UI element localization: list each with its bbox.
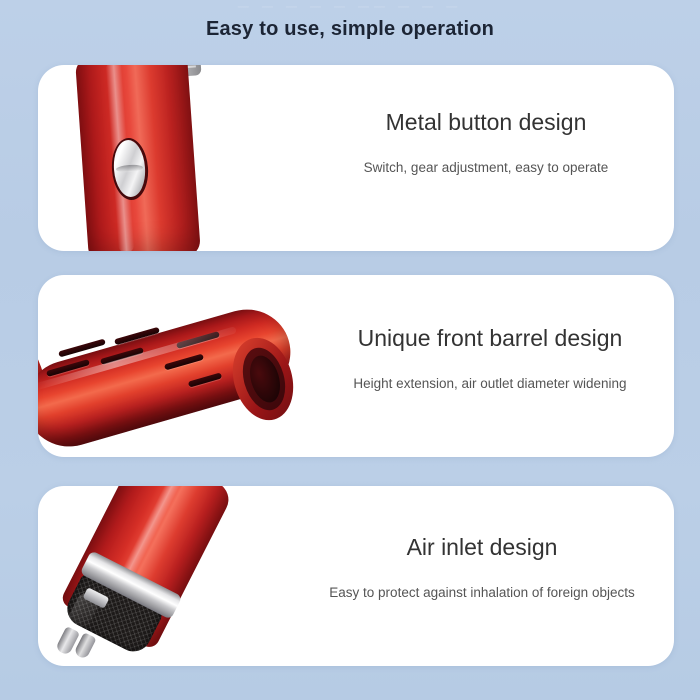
feature-heading: Metal button design: [310, 109, 662, 135]
feature-subtitle: Switch, gear adjustment, easy to operate: [310, 159, 662, 177]
feature-card-air-inlet[interactable]: Air inlet design Easy to protect against…: [38, 486, 674, 666]
page-title: Easy to use, simple operation: [0, 18, 700, 41]
product-image-air-inlet: [38, 486, 298, 666]
feature-card-front-barrel[interactable]: Unique front barrel design Height extens…: [38, 275, 674, 457]
watermark-text: — — — — — —— — — —: [0, 0, 700, 14]
feature-card-metal-button[interactable]: Metal button design Switch, gear adjustm…: [38, 65, 674, 251]
feature-text-block-2: Unique front barrel design Height extens…: [314, 325, 666, 393]
feature-subtitle: Height extension, air outlet diameter wi…: [314, 375, 666, 393]
feature-heading: Air inlet design: [306, 534, 658, 560]
feature-text-block-3: Air inlet design Easy to protect against…: [306, 534, 658, 602]
feature-text-block-1: Metal button design Switch, gear adjustm…: [310, 109, 662, 177]
feature-heading: Unique front barrel design: [314, 325, 666, 351]
feature-subtitle: Easy to protect against inhalation of fo…: [306, 584, 658, 602]
product-image-metal-button: [38, 65, 248, 251]
product-image-front-barrel: [38, 303, 338, 453]
product-feature-page: — — — — — —— — — — Easy to use, simple o…: [0, 0, 700, 700]
